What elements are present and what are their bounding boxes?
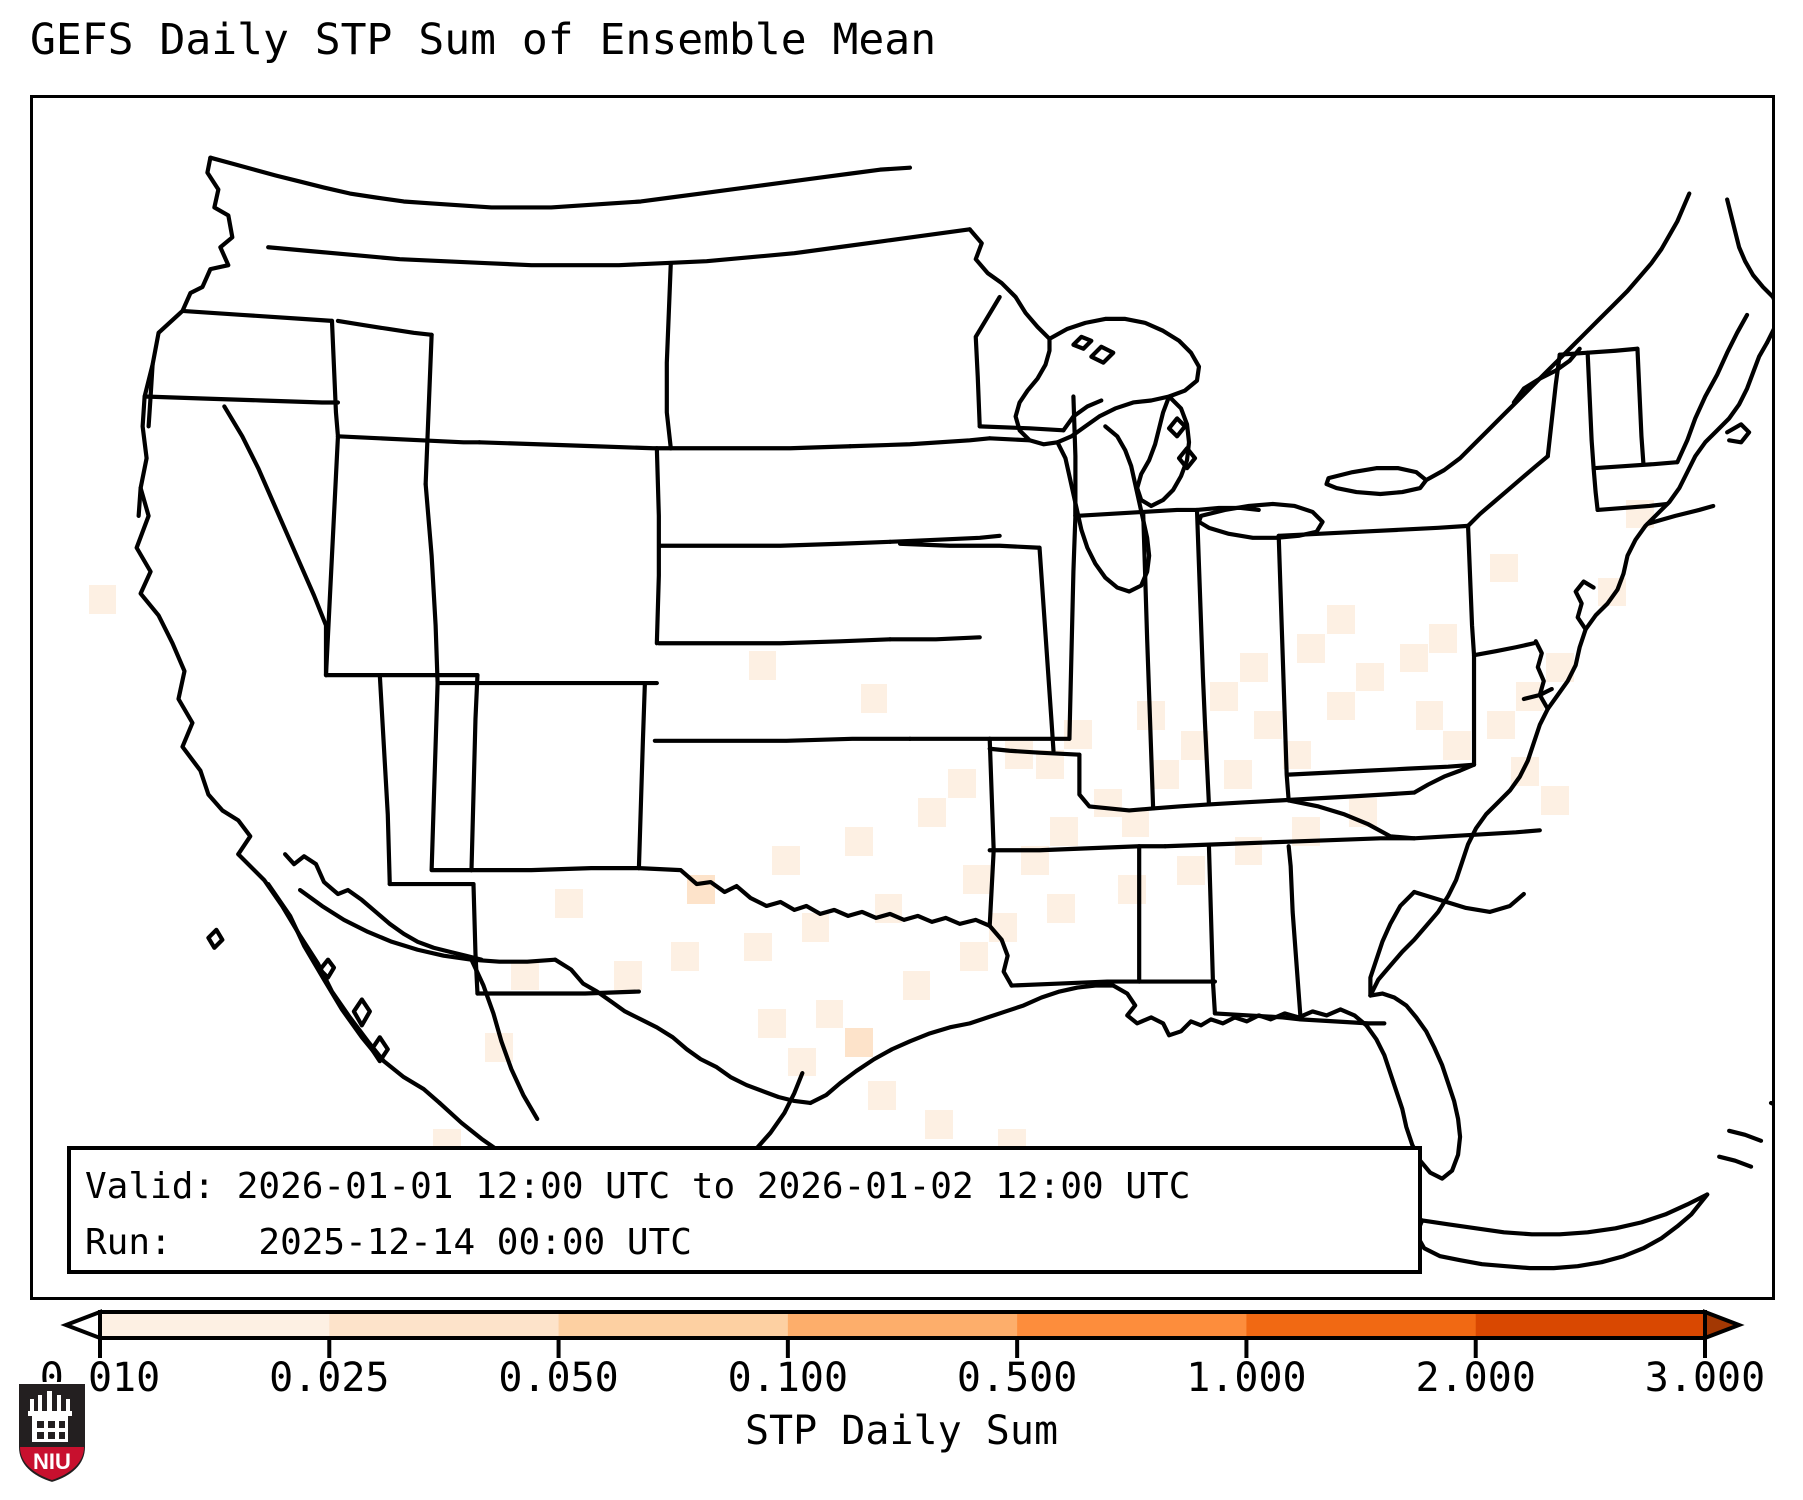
colorbar-over-arrow <box>1705 1312 1739 1338</box>
info-box: Valid: 2026-01-01 12:00 UTC to 2026-01-0… <box>67 1146 1422 1274</box>
page-title: GEFS Daily STP Sum of Ensemble Mean <box>30 14 936 66</box>
colorbar-tick-label: 2.000 <box>1415 1355 1535 1401</box>
colorbar-band <box>329 1312 559 1338</box>
colorbar-under-arrow <box>66 1312 100 1338</box>
colorbar-band <box>100 1312 330 1338</box>
colorbar-tick-label: 3.000 <box>1645 1355 1765 1401</box>
colorbar-tick-label: 1.000 <box>1186 1355 1306 1401</box>
colorbar-tick-labels: 0.0100.0250.0500.1000.5001.0002.0003.000 <box>0 1355 1803 1407</box>
colorbar[interactable] <box>30 1300 1775 1360</box>
run-line: Run: 2025-12-14 00:00 UTC <box>85 1215 1404 1271</box>
colorbar-axis-label: STP Daily Sum <box>0 1408 1803 1454</box>
niu-logo: NIU <box>16 1381 88 1485</box>
valid-line: Valid: 2026-01-01 12:00 UTC to 2026-01-0… <box>85 1159 1404 1215</box>
colorbar-bands <box>66 1312 1739 1338</box>
colorbar-band <box>1017 1312 1247 1338</box>
map-geography <box>33 98 1772 1297</box>
colorbar-tick-label: 0.100 <box>728 1355 848 1401</box>
colorbar-tick-label: 0.500 <box>957 1355 1077 1401</box>
colorbar-band <box>788 1312 1018 1338</box>
map-frame[interactable]: Valid: 2026-01-01 12:00 UTC to 2026-01-0… <box>30 95 1775 1300</box>
colorbar-band <box>1246 1312 1476 1338</box>
colorbar-svg <box>30 1300 1775 1360</box>
colorbar-tick-label: 0.025 <box>269 1355 389 1401</box>
colorbar-band <box>1476 1312 1706 1338</box>
logo-text: NIU <box>33 1449 71 1474</box>
colorbar-tick-label: 0.050 <box>498 1355 618 1401</box>
colorbar-band <box>559 1312 789 1338</box>
